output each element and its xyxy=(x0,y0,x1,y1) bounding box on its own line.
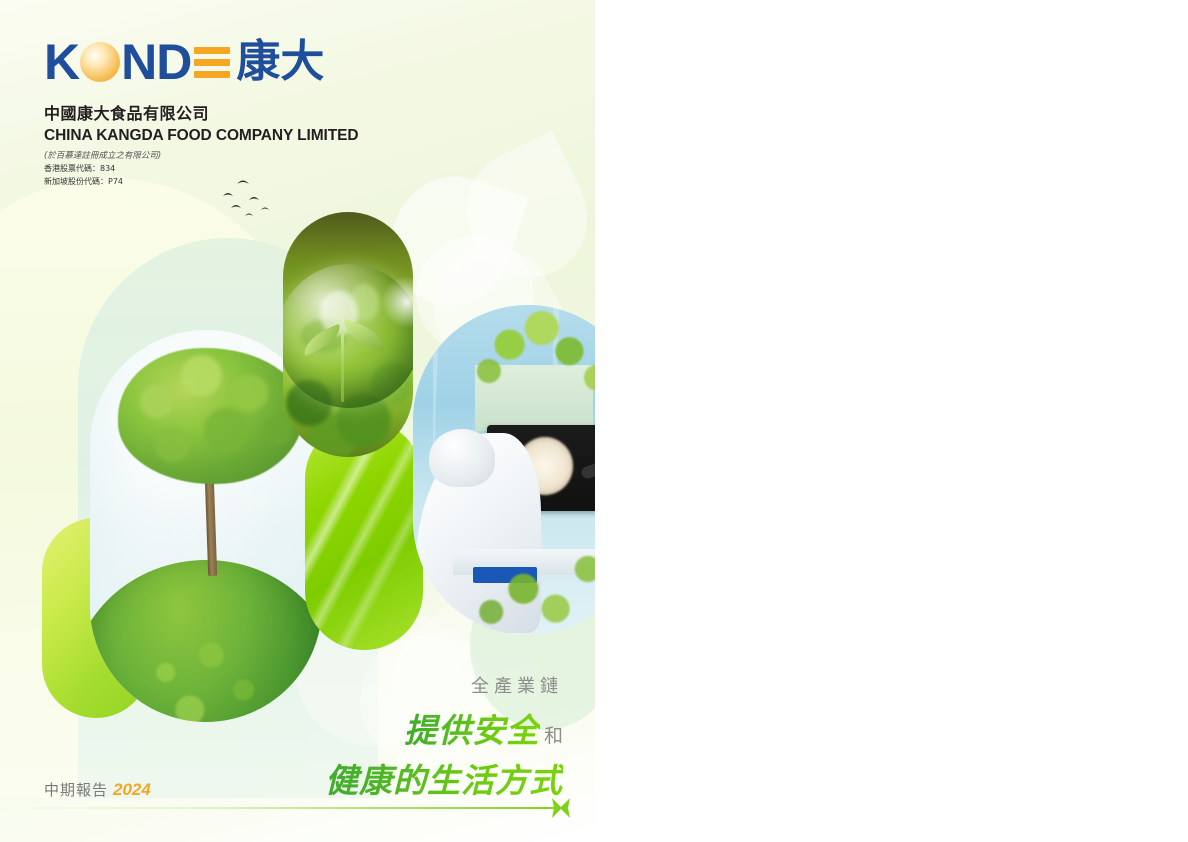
report-year: 2024 xyxy=(113,780,151,799)
cover-tagline: 全產業鏈 提供安全和 健康的生活方式 xyxy=(325,672,563,802)
report-cover-page: K ND 康大 中國康大食品有限公司 CHINA KANGDA FOOD COM… xyxy=(0,0,595,842)
company-name-english: CHINA KANGDA FOOD COMPANY LIMITED xyxy=(44,127,384,145)
glass-globe-seedling-photo xyxy=(283,212,413,457)
incorporation-note: (於百慕達註冊成立之有限公司) xyxy=(44,149,384,161)
sg-stock-code: 新加坡股份代碼：P74 xyxy=(44,176,384,187)
tagline-line-2-gray: 和 xyxy=(544,725,563,747)
bottom-rule xyxy=(0,807,566,809)
report-label: 中期報告 xyxy=(44,781,108,799)
report-title-line: 中期報告2024 xyxy=(44,779,151,800)
logo-letter-k: K xyxy=(44,37,79,87)
tagline-line-2-green: 提供安全 xyxy=(404,711,540,750)
lab-microscope-photo xyxy=(413,305,595,635)
x-cross-icon xyxy=(549,796,573,820)
company-name-chinese: 中國康大食品有限公司 xyxy=(44,100,384,124)
tagline-line-3-green: 健康的生活方式 xyxy=(325,761,563,800)
logo-letters-nd: ND xyxy=(121,37,191,87)
hk-stock-code: 香港股票代碼：834 xyxy=(44,163,384,174)
company-logo-block: K ND 康大 中國康大食品有限公司 CHINA KANGDA FOOD COM… xyxy=(44,38,384,187)
tagline-line-2: 提供安全和 xyxy=(325,704,563,752)
tagline-line-3: 健康的生活方式 xyxy=(325,754,563,802)
three-bars-san-icon xyxy=(194,47,230,78)
tagline-line-1: 全產業鏈 xyxy=(325,672,563,698)
logo-chinese-mark: 康大 xyxy=(236,40,324,84)
orange-sphere-o-icon xyxy=(80,42,120,82)
kangda-logo: K ND 康大 xyxy=(44,38,384,86)
